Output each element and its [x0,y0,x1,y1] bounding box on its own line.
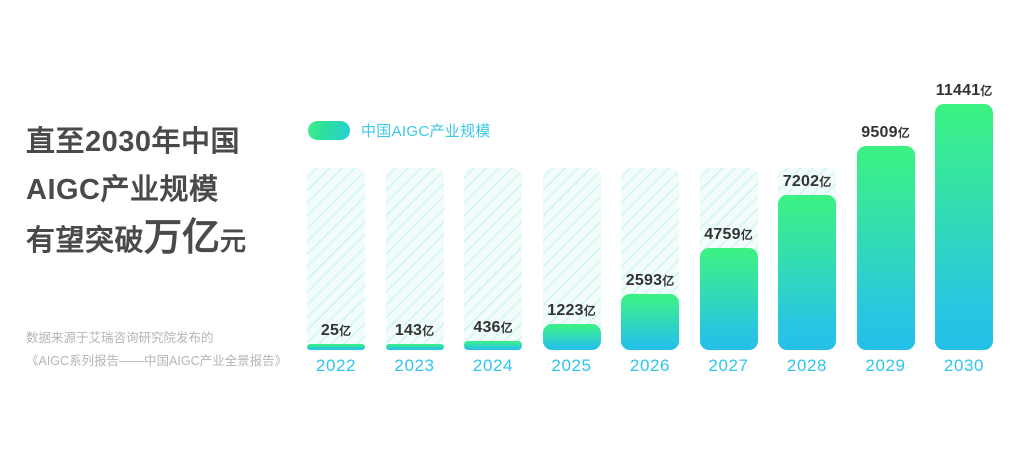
bar-value-label: 4759亿 [704,226,752,244]
category-label: 2029 [865,356,905,376]
source-note-line-1: 数据来源于艾瑞咨询研究院发布的 [26,327,326,350]
bar-value-label: 9509亿 [861,124,909,142]
category-label: 2026 [630,356,670,376]
bar-value-label: 436亿 [473,319,512,337]
category-label: 2028 [787,356,827,376]
bar-value-unit: 亿 [898,126,910,140]
bar-group[interactable]: 9509亿 [857,104,915,350]
bar-value-number: 4759 [704,226,740,243]
bar-chart: 25亿143亿436亿1223亿2593亿4759亿7202亿9509亿1144… [300,104,1000,384]
bar-value-unit: 亿 [819,175,831,189]
bar-group[interactable]: 2593亿 [621,104,679,350]
bar-value-number: 9509 [861,124,897,141]
source-note-line-2: 《AIGC系列报告——中国AIGC产业全景报告》 [26,350,326,373]
category-label: 2024 [473,356,513,376]
bar-group[interactable]: 436亿 [464,104,522,350]
headline-line-3: 有望突破万亿元 [26,214,296,265]
source-note: 数据来源于艾瑞咨询研究院发布的 《AIGC系列报告——中国AIGC产业全景报告》 [26,327,326,373]
page-title: 直至2030年中国 AIGC产业规模 有望突破万亿元 [26,118,296,265]
bar-value-unit: 亿 [584,304,596,318]
category-label: 2027 [708,356,748,376]
bar-group[interactable]: 7202亿 [778,104,836,350]
bar-group[interactable]: 4759亿 [700,104,758,350]
bar-fill[interactable] [464,341,522,350]
category-label: 2025 [551,356,591,376]
bar-fill[interactable] [935,104,993,350]
headline-prefix: 有望突破 [26,225,144,257]
bar-fill[interactable] [778,195,836,350]
category-label: 2022 [316,356,356,376]
bar-value-label: 25亿 [321,322,351,340]
bar-value-number: 7202 [783,173,819,190]
bar-value-label: 143亿 [395,322,434,340]
bar-fill[interactable] [621,294,679,350]
bar-value-number: 1223 [547,302,583,319]
bar-value-label: 2593亿 [626,272,674,290]
bar-fill[interactable] [307,344,365,350]
bar-value-number: 11441 [936,82,981,99]
bar-value-number: 436 [473,319,500,336]
bar-value-unit: 亿 [662,274,674,288]
bar-fill[interactable] [543,324,601,350]
infographic-root: 直至2030年中国 AIGC产业规模 有望突破万亿元 数据来源于艾瑞咨询研究院发… [0,0,1010,450]
headline-emphasis: 万亿 [144,217,220,259]
bar-value-unit: 亿 [980,84,992,98]
bar-value-unit: 亿 [339,324,351,338]
bar-fill[interactable] [857,146,915,350]
bar-value-number: 143 [395,322,422,339]
bar-fill[interactable] [386,344,444,350]
bar-track [543,168,601,350]
bar-value-label: 1223亿 [547,302,595,320]
headline-line-2: AIGC产业规模 [26,166,296,214]
bar-fill[interactable] [700,248,758,350]
bar-value-unit: 亿 [501,321,513,335]
bar-value-unit: 亿 [741,228,753,242]
headline-line-1: 直至2030年中国 [26,118,296,166]
headline-tail: 元 [220,226,247,256]
bar-group[interactable]: 25亿 [307,104,365,350]
bar-group[interactable]: 143亿 [386,104,444,350]
bar-value-number: 25 [321,322,339,339]
bar-value-unit: 亿 [422,324,434,338]
chart-plot-area: 25亿143亿436亿1223亿2593亿4759亿7202亿9509亿1144… [300,104,1000,350]
bar-value-label: 11441亿 [936,82,993,100]
bar-value-number: 2593 [626,272,662,289]
bar-group[interactable]: 11441亿 [935,104,993,350]
bar-value-label: 7202亿 [783,173,831,191]
bar-group[interactable]: 1223亿 [543,104,601,350]
category-label: 2023 [394,356,434,376]
category-label: 2030 [944,356,984,376]
